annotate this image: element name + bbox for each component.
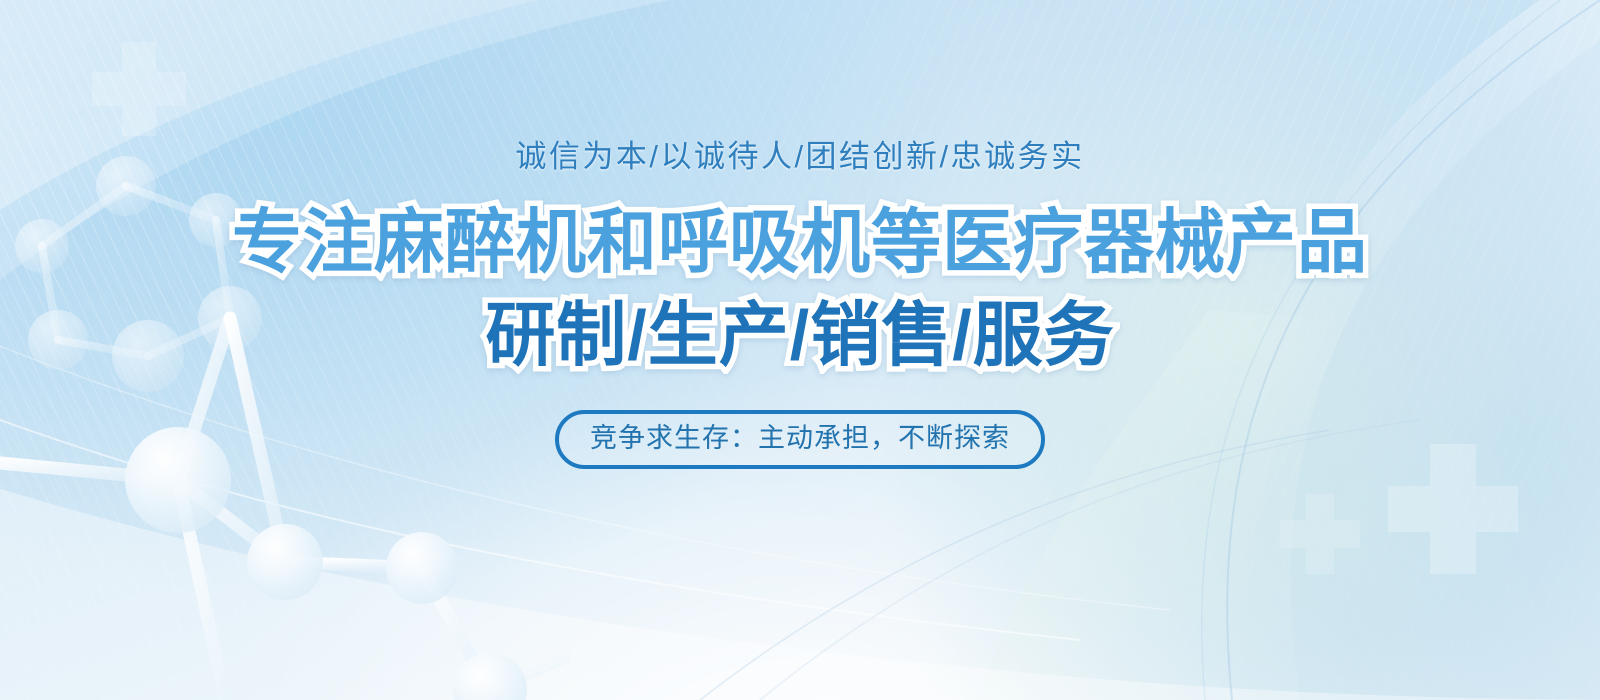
slogan-badge[interactable]: 竞争求生存：主动承担，不断探索 [555,410,1045,469]
banner-headline: 专注麻醉机和呼吸机等医疗器械产品 研制/生产/销售/服务 [232,207,1368,372]
badge-container: 竞争求生存：主动承担，不断探索 [555,410,1045,469]
banner-content: 诚信为本/以诚待人/团结创新/忠诚务实 专注麻醉机和呼吸机等医疗器械产品 研制/… [0,0,1600,700]
banner-tagline: 诚信为本/以诚待人/团结创新/忠诚务实 [515,141,1084,172]
headline-line-1: 专注麻醉机和呼吸机等医疗器械产品 [232,207,1368,278]
hero-banner: 诚信为本/以诚待人/团结创新/忠诚务实 专注麻醉机和呼吸机等医疗器械产品 研制/… [0,0,1600,700]
headline-line-2: 研制/生产/销售/服务 [485,300,1114,371]
